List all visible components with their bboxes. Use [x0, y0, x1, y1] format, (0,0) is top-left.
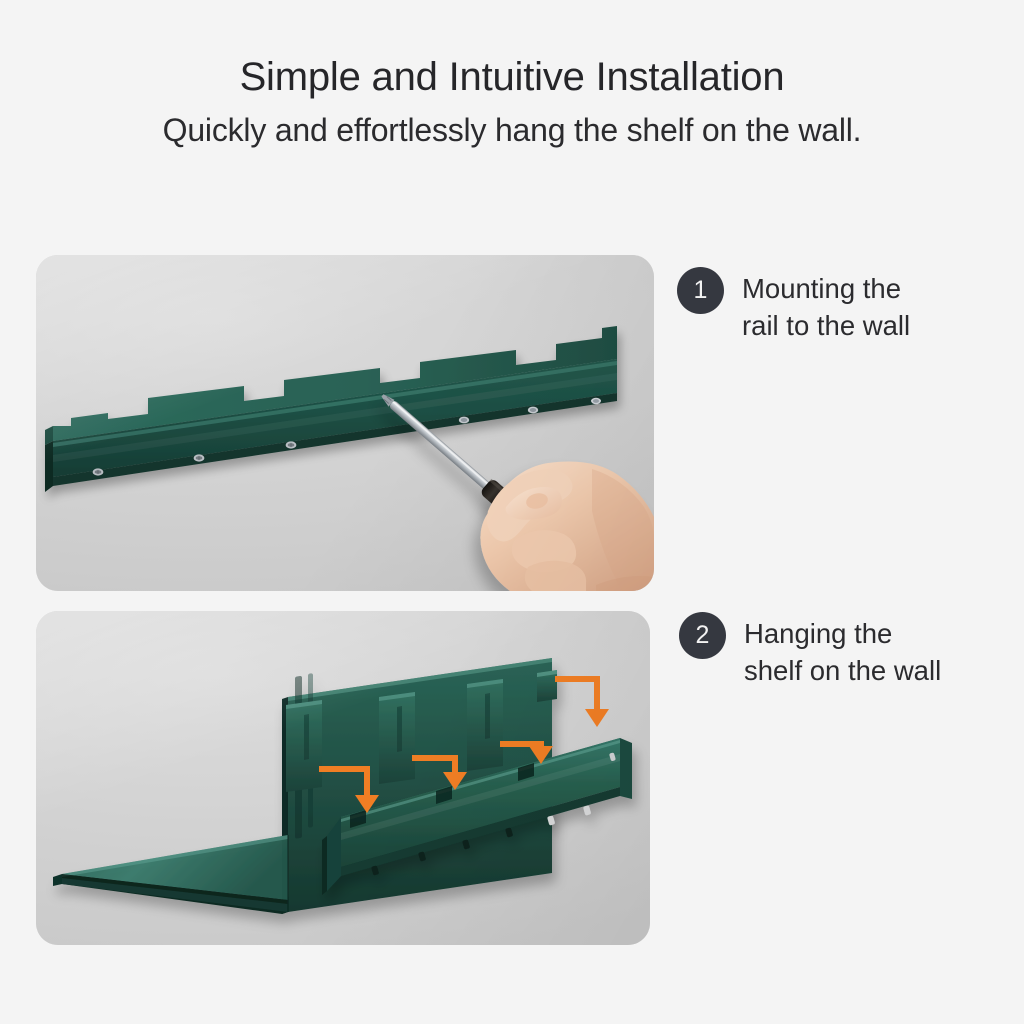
panel-1-lighting-overlay: [36, 255, 654, 591]
step-item-2: 2 Hanging the shelf on the wall: [679, 612, 941, 689]
panel-2-lighting-overlay: [36, 611, 650, 945]
step-item-1: 1 Mounting the rail to the wall: [677, 267, 910, 344]
panel-mounting-rail: [36, 255, 654, 591]
step-badge-2: 2: [679, 612, 726, 659]
header: Simple and Intuitive Installation Quickl…: [0, 0, 1024, 146]
page-title: Simple and Intuitive Installation: [0, 0, 1024, 97]
infographic-page: Simple and Intuitive Installation Quickl…: [0, 0, 1024, 1024]
step-label-2: Hanging the shelf on the wall: [744, 612, 941, 689]
step-label-1: Mounting the rail to the wall: [742, 267, 910, 344]
panel-hanging-shelf: [36, 611, 650, 945]
page-subtitle: Quickly and effortlessly hang the shelf …: [0, 97, 1024, 146]
step-badge-1: 1: [677, 267, 724, 314]
